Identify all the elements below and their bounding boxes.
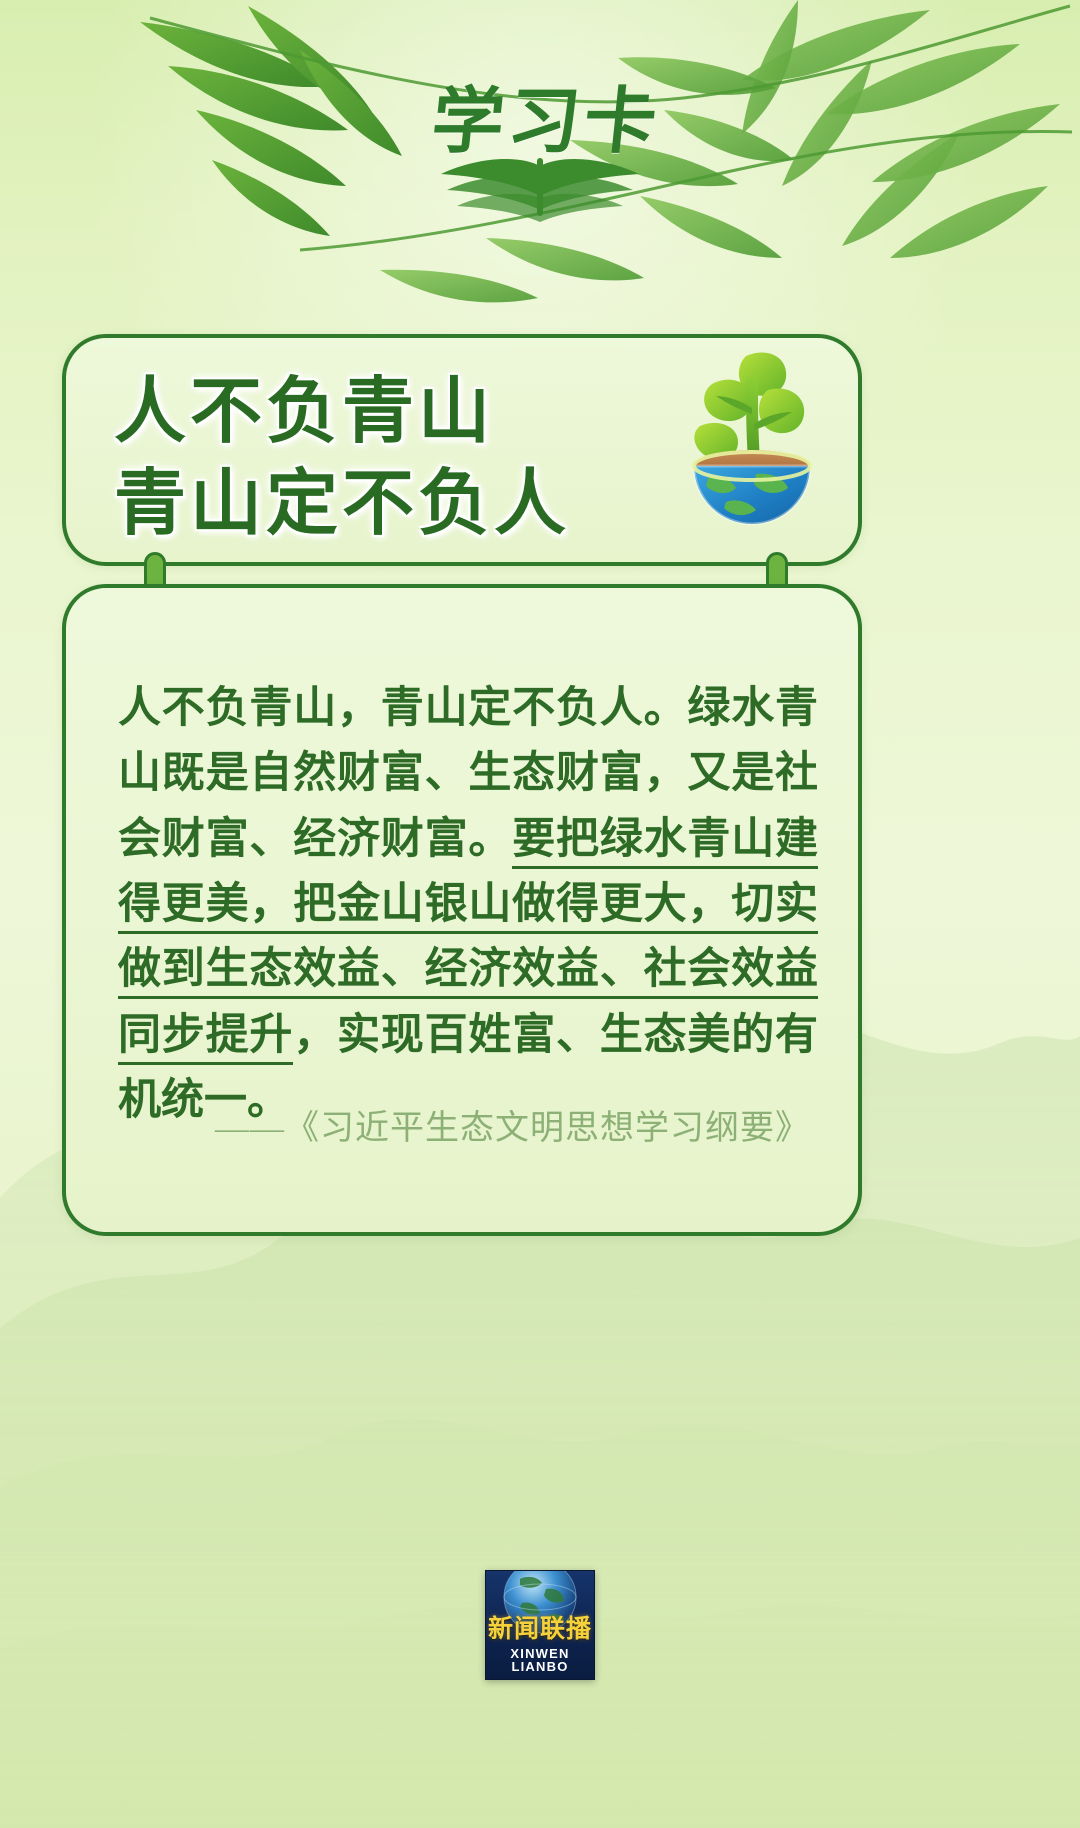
brand-name: 学习卡 <box>428 86 664 158</box>
logo-chinese-text: 新闻联播 <box>486 1617 594 1642</box>
quote-citation: ——《习近平生态文明思想学习纲要》 <box>215 1100 810 1149</box>
headline-text: 人不负青山 青山定不负人 <box>114 366 570 550</box>
sprout-in-globe-bowl-icon <box>660 342 840 532</box>
quote-text: 人不负青山，青山定不负人。绿水青山既是自然财富、生态财富，又是社会财富、经济财富… <box>118 676 818 1134</box>
brand-name-text: 学习卡 <box>428 82 664 162</box>
brand-mark: 学习卡 <box>0 86 1080 246</box>
title-card: 人不负青山 青山定不负人 <box>62 334 862 566</box>
sprout-globe-glyph <box>660 342 840 532</box>
logo-latin-text: XINWEN LIANBO <box>486 1647 594 1673</box>
poster-root: 学习卡 人不负青山 青山定不负人 <box>0 0 1080 1828</box>
xinwen-lianbo-logo: 新闻联播 XINWEN LIANBO <box>485 1570 595 1680</box>
quote-card: 人不负青山，青山定不负人。绿水青山既是自然财富、生态财富，又是社会财富、经济财富… <box>62 584 862 1236</box>
open-book-icon <box>425 152 655 229</box>
open-book-glyph <box>425 152 655 224</box>
